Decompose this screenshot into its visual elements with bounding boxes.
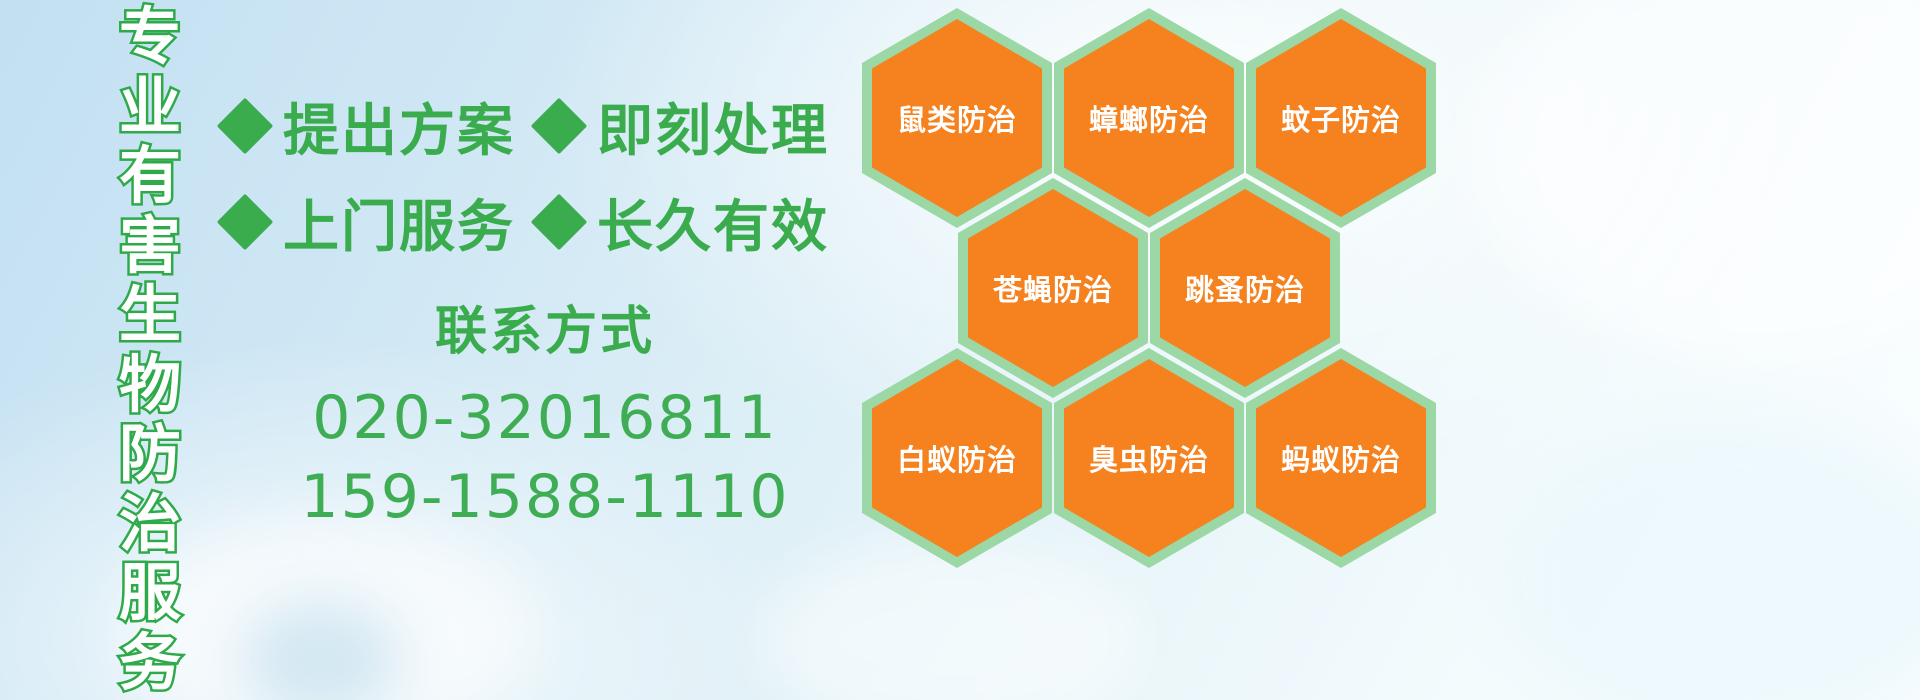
service-hex-fill: 苍蝇防治 [968,189,1138,387]
service-hex-fill: 蟑螂防治 [1064,19,1234,217]
vertical-headline-char: 专 [119,6,181,68]
service-hex-bedbug[interactable]: 臭虫防治 [1054,348,1244,568]
vertical-headline-char: 业 [119,76,181,138]
service-hex-label: 臭虫防治 [1089,437,1209,479]
service-hex-mosquito[interactable]: 蚊子防治 [1246,8,1436,228]
background-blob [1480,0,1920,360]
service-hex-label: 鼠类防治 [897,97,1017,139]
contact-phone-landline[interactable]: 020-32016811 [225,379,865,458]
feature-row: 提出方案 即刻处理 [225,78,865,174]
feature-list: 提出方案 即刻处理 上门服务 长久有效 [225,78,865,270]
service-hex-label: 白蚁防治 [897,437,1017,479]
feature-label: 长久有效 [597,182,829,263]
vertical-headline-char: 服 [119,562,181,624]
diamond-bullet-icon [531,194,588,251]
service-hex-fill: 臭虫防治 [1064,359,1234,557]
service-hex-label: 蚊子防治 [1281,97,1401,139]
feature-item: 上门服务 [225,182,515,263]
vertical-headline: 专 业 有 害 生 物 防 治 服 务 [104,6,196,694]
feature-label: 即刻处理 [597,86,829,167]
feature-label: 提出方案 [283,86,515,167]
service-hex-fly[interactable]: 苍蝇防治 [958,178,1148,398]
feature-item: 提出方案 [225,86,515,167]
diamond-bullet-icon [217,98,274,155]
promo-banner: 专 业 有 害 生 物 防 治 服 务 提出方案 即刻处理 上门服务 [0,0,1920,700]
background-blob [1500,420,1920,700]
service-hex-fill: 鼠类防治 [872,19,1042,217]
diamond-bullet-icon [531,98,588,155]
service-hex-ant[interactable]: 蚂蚁防治 [1246,348,1436,568]
background-blob [240,600,400,700]
service-hex-termite[interactable]: 白蚁防治 [862,348,1052,568]
vertical-headline-char: 物 [119,354,181,416]
service-hex-rodent[interactable]: 鼠类防治 [862,8,1052,228]
service-hex-label: 蚂蚁防治 [1281,437,1401,479]
contact-block: 联系方式 020-32016811 159-1588-1110 [225,300,865,537]
service-honeycomb: 鼠类防治 蟑螂防治 蚊子防治 苍蝇防治 跳蚤防治 白蚁防治 [856,0,1476,580]
vertical-headline-char: 治 [119,493,181,555]
service-hex-fill: 蚊子防治 [1256,19,1426,217]
vertical-headline-char: 防 [119,423,181,485]
vertical-headline-char: 生 [119,284,181,346]
service-hex-flea[interactable]: 跳蚤防治 [1150,178,1340,398]
service-hex-cockroach[interactable]: 蟑螂防治 [1054,8,1244,228]
service-hex-fill: 白蚁防治 [872,359,1042,557]
service-hex-fill: 跳蚤防治 [1160,189,1330,387]
contact-phone-mobile[interactable]: 159-1588-1110 [225,458,865,537]
diamond-bullet-icon [217,194,274,251]
feature-item: 即刻处理 [539,86,829,167]
feature-row: 上门服务 长久有效 [225,174,865,270]
feature-item: 长久有效 [539,182,829,263]
vertical-headline-char: 有 [119,145,181,207]
vertical-headline-char: 害 [119,215,181,277]
contact-title: 联系方式 [225,300,865,365]
service-hex-label: 苍蝇防治 [993,267,1113,309]
service-hex-label: 蟑螂防治 [1089,97,1209,139]
vertical-headline-char: 务 [119,632,181,694]
feature-label: 上门服务 [283,182,515,263]
service-hex-label: 跳蚤防治 [1185,267,1305,309]
service-hex-fill: 蚂蚁防治 [1256,359,1426,557]
